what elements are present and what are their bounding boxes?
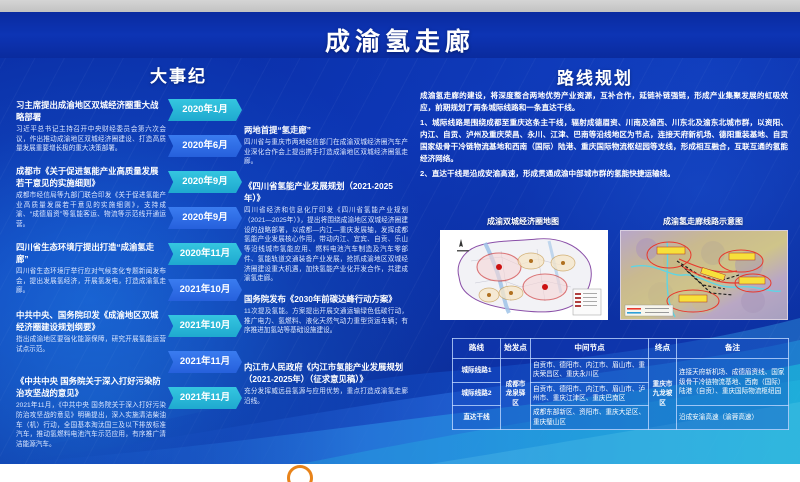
timeline-entry: 内江市人民政府《内江市氢能产业发展规划（2021-2025年）（征求意见稿）》 …	[244, 362, 408, 406]
cell-remark: 连接天府新机场、成德眉资线、国家级骨干冷链物流基地、西南（国际）陆港（自贡）、重…	[677, 359, 789, 406]
cell-route: 城际线路1	[453, 359, 501, 383]
timeline-date-badge[interactable]: 2021年11月	[168, 387, 242, 409]
cell-nodes: 自贡市、德阳市、内江市、眉山市、泸州市、重庆江津区、重庆巴南区	[531, 382, 649, 406]
timeline-entry: 成都市《关于促进氢能产业高质量发展若干意见的实施细则》 成都市经信局等九部门联合…	[16, 166, 166, 230]
table-header-origin: 始发点	[501, 339, 531, 359]
timeline-entry-body: 2021年11月，《中共中央 国务院关于深入打好污染防治攻坚战的意见》明确提出，…	[16, 401, 166, 450]
timeline-entry: 两地首提“氢走廊” 四川省与重庆市两地经信部门在成渝双城经济圈汽车产业深化合作会…	[244, 125, 408, 167]
timeline-entry-body: 习近平总书记主持召开中央财经委员会第六次会议，作出推动成渝地区双城经济圈建设、打…	[16, 125, 166, 154]
route-paragraph: 2、直达干线是沿成安渝高速，形成贯通成渝中部城市群的氢能快捷运输线。	[420, 168, 788, 180]
timeline-date-badge[interactable]: 2020年9月	[168, 171, 242, 193]
timeline-date-column: 2020年1月 2020年6月 2020年9月 2020年9月 2020年11月…	[168, 99, 242, 423]
timeline-entry: 中共中央、国务院印发《成渝地区双城经济圈建设规划纲要》 指出成渝地区要强化能源保…	[16, 310, 166, 354]
timeline-entry: 国务院发布《2030年前碳达峰行动方案》 11次提及氢能。方案提出开展交通运输绿…	[244, 294, 408, 336]
table-header-destination: 终点	[649, 339, 677, 359]
route-paragraph: 1、城际线路是围绕成都至重庆这条主干线，辐射成德眉资、川南及渝西、川东北及渝东北…	[420, 117, 788, 166]
timeline-entry-title: 两地首提“氢走廊”	[244, 125, 408, 137]
table-header-nodes: 中间节点	[531, 339, 649, 359]
route-section-heading: 路线规划	[0, 64, 800, 89]
timeline-entry: 《四川省氢能产业发展规划（2021-2025年）》 四川省经济和信息化厅印发《四…	[244, 181, 408, 284]
cell-origin: 成都市龙泉驿区	[501, 359, 531, 430]
timeline-entry: 习主席提出成渝地区双城经济圈重大战略部署 习近平总书记主持召开中央财经委员会第六…	[16, 100, 166, 154]
cell-route: 直达干线	[453, 406, 501, 430]
timeline-left-column: 习主席提出成渝地区双城经济圈重大战略部署 习近平总书记主持召开中央财经委员会第六…	[16, 100, 166, 459]
page-top-frame	[0, 0, 800, 12]
map-caption: 成渝双城经济圈地图	[440, 216, 606, 227]
table-row: 城际线路1 成都市龙泉驿区 自贡市、德阳市、内江市、眉山市、重庆荣昌区、重庆永川…	[453, 359, 789, 383]
cell-nodes: 自贡市、德阳市、内江市、眉山市、重庆荣昌区、重庆永川区	[531, 359, 649, 383]
timeline-date-badge[interactable]: 2020年9月	[168, 207, 242, 229]
timeline-entry-title: 成都市《关于促进氢能产业高质量发展若干意见的实施细则》	[16, 166, 166, 190]
poster-canvas: 成渝氢走廊 大事纪 路线规划 习主席提出成渝地区双城经济圈重大战略部署 习近平总…	[0, 0, 800, 482]
timeline-entry-body: 充分发挥威远县氢源与应用优势，重点打造成渝氢走廊沿线。	[244, 387, 408, 407]
timeline-date-badge[interactable]: 2020年1月	[168, 99, 242, 121]
timeline-entry-title: 四川省生态环境厅提出打造“成渝氢走廊”	[16, 242, 166, 266]
timeline-entry: 四川省生态环境厅提出打造“成渝氢走廊” 四川省生态环境厅举行应对气候变化专题新闻…	[16, 242, 166, 296]
timeline-entry-body: 成都市经信局等九部门联合印发《关于促进氢能产业高质量发展若干意见的实施细则》，支…	[16, 191, 166, 230]
page-title: 成渝氢走廊	[0, 22, 800, 58]
timeline-entry: 《中共中央 国务院关于深入打好污染防治攻坚战的意见》 2021年11月，《中共中…	[16, 376, 166, 450]
table-header-remark: 备注	[677, 339, 789, 359]
cell-remark: 沿成安渝高速（渝蓉高速）	[677, 406, 789, 430]
page-bottom-frame	[0, 464, 800, 482]
timeline-middle-column: 两地首提“氢走廊” 四川省与重庆市两地经信部门在成渝双城经济圈汽车产业深化合作会…	[244, 125, 408, 416]
route-paragraph: 成渝氢走廊的建设，将深度整合两地优势产业资源，互补合作，延链补链强链，形成产业集…	[420, 90, 788, 115]
table-header-route: 路线	[453, 339, 501, 359]
map-block-hydrogen-corridor: 成渝氢走廊线路示意图	[620, 216, 786, 320]
cell-route: 城际线路2	[453, 382, 501, 406]
map-image-hydrogen-corridor[interactable]	[620, 230, 788, 320]
map-image-economic-circle[interactable]	[440, 230, 608, 320]
table-header-row: 路线 始发点 中间节点 终点 备注	[453, 339, 789, 359]
route-plan-text: 成渝氢走廊的建设，将深度整合两地优势产业资源，互补合作，延链补链强链，形成产业集…	[420, 90, 788, 182]
timeline-entry-body: 四川省与重庆市两地经信部门在成渝双城经济圈汽车产业深化合作会上提出携手打造成渝地…	[244, 138, 408, 167]
timeline-date-badge[interactable]: 2021年10月	[168, 315, 242, 337]
cell-destination: 重庆市九龙坡区	[649, 359, 677, 430]
timeline-date-badge[interactable]: 2020年6月	[168, 135, 242, 157]
route-table: 路线 始发点 中间节点 终点 备注 城际线路1 成都市龙泉驿区 自贡市、德阳市、…	[452, 338, 789, 430]
map-caption: 成渝氢走廊线路示意图	[620, 216, 786, 227]
timeline-entry-title: 国务院发布《2030年前碳达峰行动方案》	[244, 294, 408, 306]
timeline-date-badge[interactable]: 2021年11月	[168, 351, 242, 373]
map-block-economic-circle: 成渝双城经济圈地图	[440, 216, 606, 320]
route-table-wrapper: 路线 始发点 中间节点 终点 备注 城际线路1 成都市龙泉驿区 自贡市、德阳市、…	[452, 338, 788, 430]
timeline-entry-title: 内江市人民政府《内江市氢能产业发展规划（2021-2025年）（征求意见稿）》	[244, 362, 408, 386]
timeline-entry-body: 四川省生态环境厅举行应对气候变化专题新闻发布会，提出发展氢经济，开展氢发电，打造…	[16, 267, 166, 296]
timeline-entry-body: 11次提及氢能。方案提出开展交通运输绿色低碳行动，推广电力、氢燃料、液化天然气动…	[244, 307, 408, 336]
timeline-entry-title: 中共中央、国务院印发《成渝地区双城经济圈建设规划纲要》	[16, 310, 166, 334]
timeline-entry-title: 《四川省氢能产业发展规划（2021-2025年）》	[244, 181, 408, 205]
timeline-entry-body: 四川省经济和信息化厅印发《四川省氢能产业规划（2021—2025年）》，提出将围…	[244, 206, 408, 284]
cell-nodes: 成都东部新区、资阳市、重庆大足区、重庆璧山区	[531, 406, 649, 430]
timeline-entry-title: 《中共中央 国务院关于深入打好污染防治攻坚战的意见》	[16, 376, 166, 400]
timeline-entry-body: 指出成渝地区要强化能源保障，研究开展氢能运营试点示范。	[16, 335, 166, 355]
timeline-date-badge[interactable]: 2020年11月	[168, 243, 242, 265]
map-gallery: 成渝双城经济圈地图	[440, 216, 788, 320]
timeline-date-badge[interactable]: 2021年10月	[168, 279, 242, 301]
timeline-entry-title: 习主席提出成渝地区双城经济圈重大战略部署	[16, 100, 166, 124]
